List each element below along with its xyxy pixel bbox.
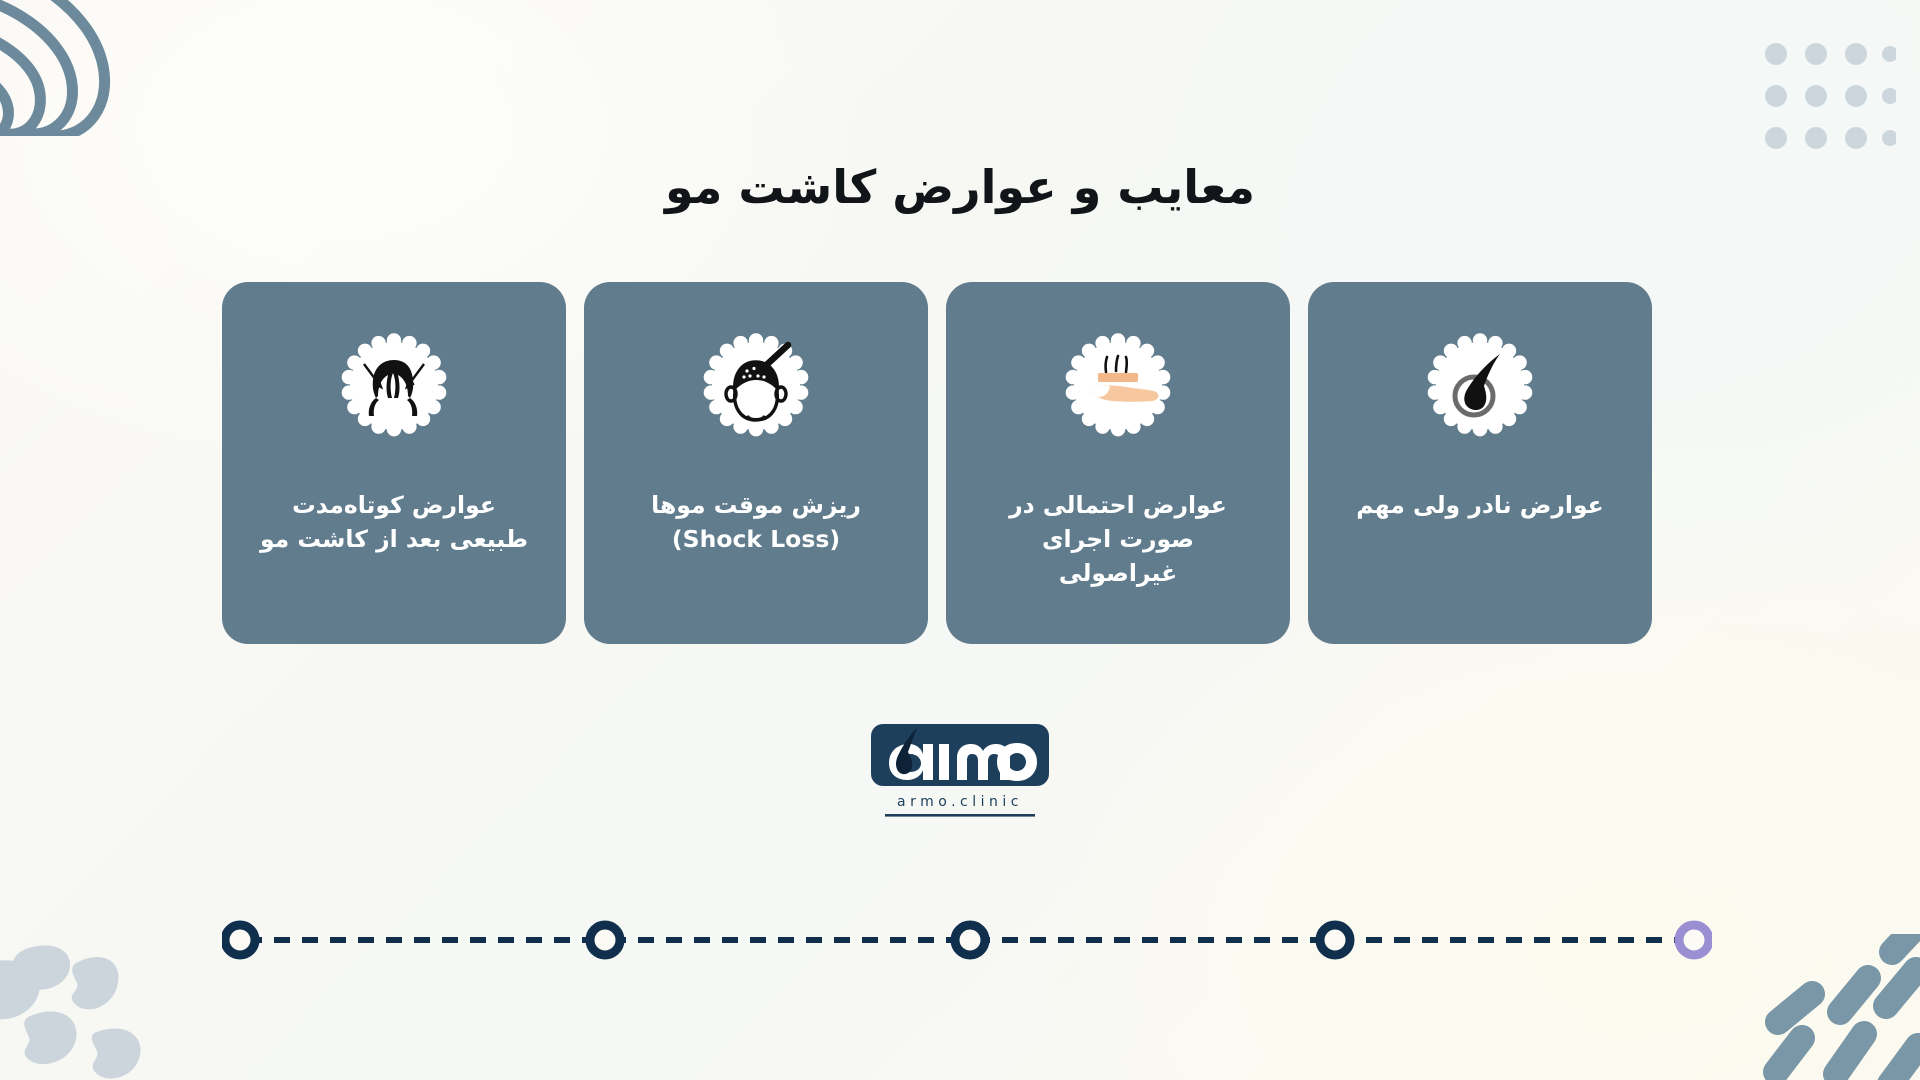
brand-logo[interactable]: armo.clinic — [0, 718, 1920, 828]
page-title: معایب و عوارض کاشت مو — [0, 159, 1920, 217]
card-row: عوارض کوتاه‌مدت طبیعی بعد از کاشت مو — [222, 282, 1652, 644]
hair-follicle-icon — [1424, 330, 1536, 442]
scalp-implant-tool-icon — [700, 330, 812, 442]
progress-dot-4 — [1320, 925, 1350, 955]
slide-canvas: معایب و عوارض کاشت مو — [0, 0, 1920, 1080]
card-label: عوارض نادر ولی مهم — [1341, 488, 1619, 522]
progress-dot-3 — [955, 925, 985, 955]
card-short-term-effects[interactable]: عوارض کوتاه‌مدت طبیعی بعد از کاشت مو — [222, 282, 566, 644]
dot-grid-decoration — [1764, 42, 1896, 154]
card-improper-procedure-effects[interactable]: عوارض احتمالی در صورت اجرای غیراصولی — [946, 282, 1290, 644]
progress-dot-1 — [225, 925, 255, 955]
diagonal-dashes-decoration — [1740, 934, 1920, 1080]
hand-graft-icon — [1062, 330, 1174, 442]
progress-indicator[interactable] — [222, 920, 1712, 960]
card-shock-loss[interactable]: ریزش موقت موها (Shock Loss) — [584, 282, 928, 644]
logo-subtext: armo.clinic — [897, 794, 1023, 810]
progress-dot-5-active — [1679, 925, 1709, 955]
hair-head-icon — [338, 330, 450, 442]
card-rare-but-important-effects[interactable]: عوارض نادر ولی مهم — [1308, 282, 1652, 644]
progress-dot-2 — [590, 925, 620, 955]
card-label: عوارض احتمالی در صورت اجرای غیراصولی — [979, 488, 1257, 590]
card-label: ریزش موقت موها (Shock Loss) — [617, 488, 895, 556]
card-label: عوارض کوتاه‌مدت طبیعی بعد از کاشت مو — [255, 488, 533, 556]
blob-cluster-decoration — [0, 937, 175, 1080]
swirl-lines-decoration — [0, 0, 168, 140]
